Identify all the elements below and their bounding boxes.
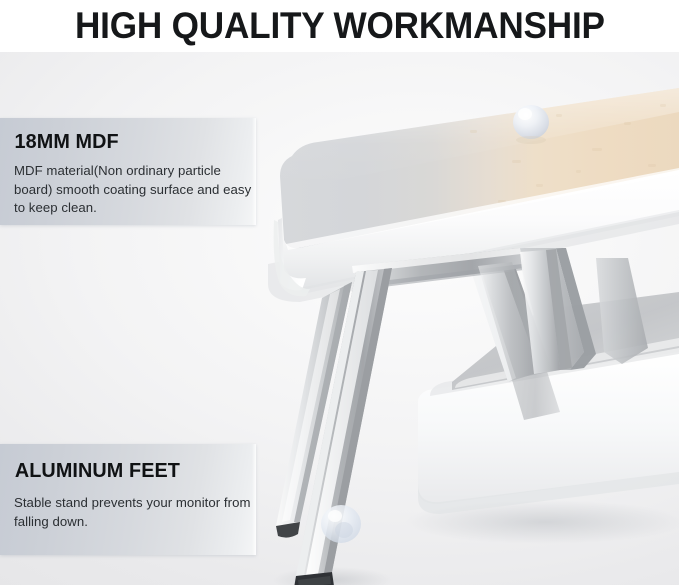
callout-heading-mdf: 18MM MDF	[15, 131, 119, 154]
page-title: HIGH QUALITY WORKMANSHIP	[0, 0, 679, 52]
product-feature-image: HIGH QUALITY WORKMANSHIP	[0, 0, 679, 585]
callout-card-mdf: 18MM MDF MDF material(Non ordinary parti…	[0, 118, 256, 225]
bumper-top	[513, 105, 549, 144]
bumper-foot	[321, 505, 361, 543]
callout-heading-aluminum-feet: ALUMINUM FEET	[15, 460, 180, 483]
callout-body-mdf: MDF material(Non ordinary particle board…	[14, 162, 252, 218]
callout-body-aluminum-feet: Stable stand prevents your monitor from …	[14, 494, 254, 531]
page-title-text: HIGH QUALITY WORKMANSHIP	[75, 5, 605, 47]
callout-card-aluminum-feet: ALUMINUM FEET Stable stand prevents your…	[0, 444, 256, 555]
